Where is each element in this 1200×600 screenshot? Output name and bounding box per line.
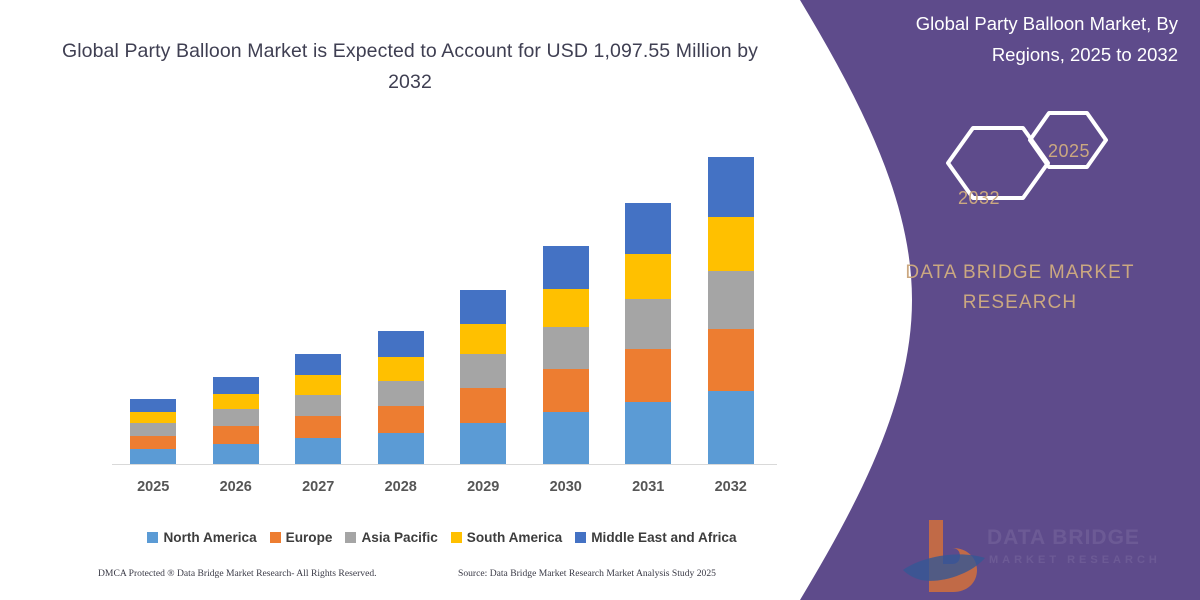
legend-item-asia-pacific[interactable]: Asia Pacific bbox=[345, 530, 437, 545]
bar-segment-south-america bbox=[130, 412, 176, 423]
legend-swatch-icon bbox=[270, 532, 281, 543]
bar-segment-north-america bbox=[213, 444, 259, 465]
bar-segment-asia-pacific bbox=[543, 327, 589, 369]
bar-segment-asia-pacific bbox=[625, 299, 671, 349]
bar-column-2026[interactable] bbox=[213, 377, 259, 465]
x-tick-2025: 2025 bbox=[118, 479, 188, 495]
footer: DMCA Protected ® Data Bridge Market Rese… bbox=[0, 568, 800, 588]
db-logo-icon bbox=[895, 512, 1155, 592]
dmca-notice: DMCA Protected ® Data Bridge Market Rese… bbox=[98, 568, 377, 579]
hexagon-outlines bbox=[918, 108, 1128, 238]
bar-segment-south-america bbox=[543, 289, 589, 327]
bar-segment-europe bbox=[625, 349, 671, 402]
legend-item-europe[interactable]: Europe bbox=[270, 530, 333, 545]
bar-segment-middle-east-and-africa bbox=[130, 399, 176, 412]
bar-segment-asia-pacific bbox=[295, 395, 341, 416]
bar-segment-south-america bbox=[625, 254, 671, 299]
legend-label: Europe bbox=[286, 530, 333, 545]
bar-segment-north-america bbox=[625, 402, 671, 465]
bar-column-2030[interactable] bbox=[543, 246, 589, 465]
bar-segment-south-america bbox=[708, 217, 754, 270]
bar-segment-middle-east-and-africa bbox=[543, 246, 589, 289]
bar-segment-europe bbox=[213, 426, 259, 444]
watermark-line2: MARKET RESEARCH bbox=[989, 554, 1161, 566]
bar-segment-middle-east-and-africa bbox=[295, 354, 341, 376]
bar-segment-north-america bbox=[130, 449, 176, 465]
x-tick-2031: 2031 bbox=[613, 479, 683, 495]
bar-column-2032[interactable] bbox=[708, 157, 754, 465]
bar-segment-middle-east-and-africa bbox=[378, 331, 424, 357]
bar-segment-north-america bbox=[708, 391, 754, 465]
bar-segment-north-america bbox=[378, 433, 424, 465]
bar-segment-middle-east-and-africa bbox=[460, 290, 506, 324]
legend-label: Asia Pacific bbox=[361, 530, 437, 545]
legend-swatch-icon bbox=[575, 532, 586, 543]
bar-segment-south-america bbox=[378, 357, 424, 380]
bar-column-2027[interactable] bbox=[295, 354, 341, 465]
chart-legend: North AmericaEuropeAsia PacificSouth Ame… bbox=[112, 530, 772, 545]
chart-title: Global Party Balloon Market is Expected … bbox=[60, 36, 760, 98]
chart-panel: Global Party Balloon Market is Expected … bbox=[0, 0, 830, 600]
bar-column-2025[interactable] bbox=[130, 399, 176, 465]
hexagon-badges: 2032 2025 bbox=[918, 108, 1128, 238]
legend-swatch-icon bbox=[345, 532, 356, 543]
bar-segment-europe bbox=[460, 388, 506, 423]
bar-segment-europe bbox=[543, 369, 589, 413]
x-tick-2028: 2028 bbox=[366, 479, 436, 495]
legend-label: Middle East and Africa bbox=[591, 530, 736, 545]
brand-name-line2: RESEARCH bbox=[860, 288, 1180, 318]
hexagon-2032-label: 2032 bbox=[958, 188, 1000, 209]
legend-item-south-america[interactable]: South America bbox=[451, 530, 562, 545]
brand-panel-title: Global Party Balloon Market, By Regions,… bbox=[858, 8, 1178, 70]
legend-swatch-icon bbox=[451, 532, 462, 543]
bar-segment-middle-east-and-africa bbox=[708, 157, 754, 217]
x-tick-2030: 2030 bbox=[531, 479, 601, 495]
bar-segment-north-america bbox=[295, 438, 341, 465]
x-axis-line bbox=[112, 464, 777, 465]
hexagon-2025-label: 2025 bbox=[1048, 141, 1090, 162]
x-tick-2029: 2029 bbox=[448, 479, 518, 495]
brand-name: DATA BRIDGE MARKET RESEARCH bbox=[860, 258, 1180, 318]
legend-swatch-icon bbox=[147, 532, 158, 543]
legend-label: North America bbox=[163, 530, 256, 545]
bar-segment-asia-pacific bbox=[460, 354, 506, 387]
bar-segment-europe bbox=[708, 329, 754, 391]
x-tick-2032: 2032 bbox=[696, 479, 766, 495]
bar-segment-middle-east-and-africa bbox=[213, 377, 259, 394]
x-axis-labels: 20252026202720282029203020312032 bbox=[112, 472, 777, 500]
bar-segment-asia-pacific bbox=[213, 409, 259, 426]
source-note: Source: Data Bridge Market Research Mark… bbox=[458, 568, 716, 579]
x-tick-2026: 2026 bbox=[201, 479, 271, 495]
bar-segment-asia-pacific bbox=[708, 271, 754, 330]
brand-panel: Global Party Balloon Market, By Regions,… bbox=[800, 0, 1200, 600]
bar-column-2028[interactable] bbox=[378, 331, 424, 465]
infographic-root: Global Party Balloon Market is Expected … bbox=[0, 0, 1200, 600]
x-tick-2027: 2027 bbox=[283, 479, 353, 495]
watermark-logo: DATA BRIDGE MARKET RESEARCH bbox=[895, 512, 1155, 592]
bar-column-2031[interactable] bbox=[625, 202, 671, 465]
bar-segment-asia-pacific bbox=[378, 381, 424, 406]
bar-segment-europe bbox=[378, 406, 424, 433]
bar-segment-asia-pacific bbox=[130, 423, 176, 435]
bar-column-2029[interactable] bbox=[460, 290, 506, 465]
bar-segment-europe bbox=[130, 436, 176, 449]
brand-name-line1: DATA BRIDGE MARKET bbox=[860, 258, 1180, 288]
bar-segment-north-america bbox=[460, 423, 506, 465]
bar-segment-south-america bbox=[295, 375, 341, 394]
bar-segment-south-america bbox=[213, 394, 259, 409]
bar-segment-europe bbox=[295, 416, 341, 438]
watermark-line1: DATA BRIDGE bbox=[987, 526, 1140, 550]
bar-segment-north-america bbox=[543, 412, 589, 465]
stacked-bar-chart bbox=[112, 140, 772, 465]
legend-item-middle-east-and-africa[interactable]: Middle East and Africa bbox=[575, 530, 736, 545]
legend-item-north-america[interactable]: North America bbox=[147, 530, 256, 545]
bar-segment-middle-east-and-africa bbox=[625, 203, 671, 254]
legend-label: South America bbox=[467, 530, 562, 545]
bar-segment-south-america bbox=[460, 324, 506, 354]
